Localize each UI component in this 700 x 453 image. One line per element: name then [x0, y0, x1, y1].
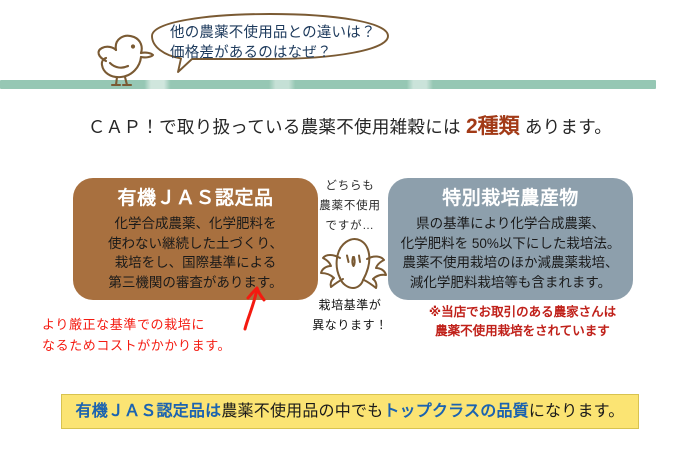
headline-before: ＣＡＰ！で取り扱っている農薬不使用雑穀には [88, 117, 466, 137]
card-yuki-jas-title: 有機ＪＡＳ認定品 [81, 187, 310, 211]
annotation-cost-note: より厳正な基準での栽培に なるためコストがかかります。 [42, 314, 257, 356]
banner-segment-4: になります。 [529, 403, 625, 420]
page-headline: ＣＡＰ！で取り扱っている農薬不使用雑穀には 2種類 あります。 [0, 114, 700, 140]
summary-banner: 有機ＪＡＳ認定品は農薬不使用品の中でもトップクラスの品質になります。 [61, 394, 639, 429]
headline-after: あります。 [520, 117, 612, 137]
card-yuki-jas: 有機ＪＡＳ認定品 化学合成農薬、化学肥料を 使わない継続した土づくり、 栽培をし… [73, 178, 318, 300]
card-tokubetsu-saibai-body: 県の基準により化学合成農薬、 化学肥料を 50%以下にした栽培法。 農薬不使用栽… [396, 214, 625, 292]
middle-bottom-text: 栽培基準が 異なります！ [308, 295, 392, 335]
banner-segment-1: 有機ＪＡＳ認定品は [76, 403, 222, 420]
speech-bubble: 他の農薬不使用品との違いは？ 価格差があるのはなぜ？ [148, 12, 392, 74]
annotation-shop-note: ※当店でお取引のある農家さんは 農薬不使用栽培をされています [400, 303, 645, 341]
infographic-canvas: 他の農薬不使用品との違いは？ 価格差があるのはなぜ？ ＣＡＰ！で取り扱っている農… [0, 0, 700, 453]
card-tokubetsu-saibai-title: 特別栽培農産物 [396, 187, 625, 211]
headline-accent: 2種類 [466, 115, 520, 138]
speech-bubble-text: 他の農薬不使用品との違いは？ 価格差があるのはなぜ？ [170, 23, 378, 63]
card-yuki-jas-body: 化学合成農薬、化学肥料を 使わない継続した土づくり、 栽培をし、国際基準による … [81, 214, 310, 292]
bird-wings-spread-icon [312, 232, 392, 294]
summary-banner-text: 有機ＪＡＳ認定品は農薬不使用品の中でもトップクラスの品質になります。 [76, 401, 625, 423]
banner-segment-3: トップクラスの品質 [383, 403, 528, 420]
banner-segment-2: 農薬不使用品の中でも [221, 403, 383, 420]
card-tokubetsu-saibai: 特別栽培農産物 県の基準により化学合成農薬、 化学肥料を 50%以下にした栽培法… [388, 178, 633, 300]
middle-top-text: どちらも 農薬不使用 ですが… [313, 176, 387, 236]
curved-arrow-up-icon [232, 283, 272, 331]
